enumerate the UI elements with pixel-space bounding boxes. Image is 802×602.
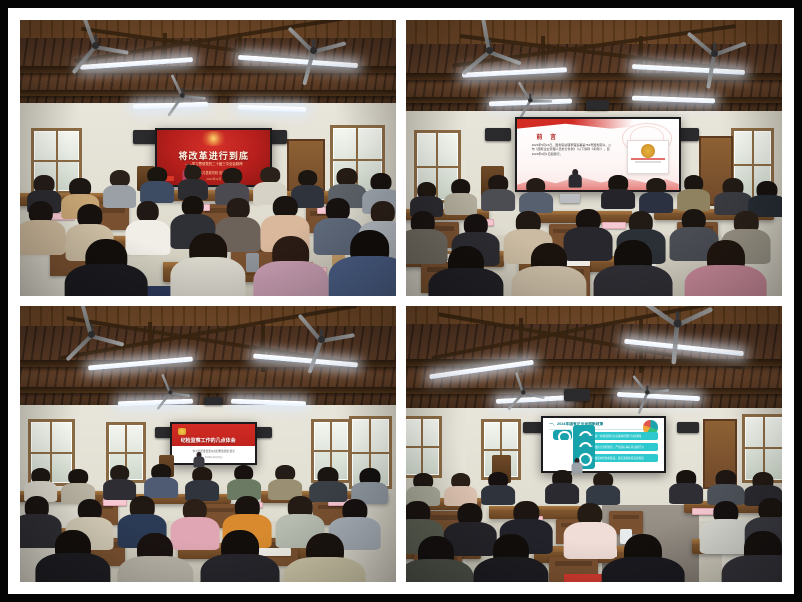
fan-blade [530, 100, 552, 103]
audience-member-foreground [474, 534, 549, 582]
fan-hub [521, 390, 526, 395]
ceiling-cross-beam [406, 388, 782, 394]
audience-member [103, 465, 137, 499]
fan-hub [645, 390, 650, 395]
audience-member [669, 470, 703, 503]
audience-member [639, 178, 673, 212]
diagram-hub [553, 430, 572, 440]
slide-body-text: 2024年5月21日，国务院总理李强签署第781号国务院令，公布《国有企业管理人… [532, 143, 613, 157]
audience-member-foreground [429, 246, 504, 296]
audience-member-foreground [253, 236, 328, 296]
audience-member-foreground [684, 240, 767, 296]
audience-member-foreground [602, 534, 685, 582]
audience-member [227, 465, 261, 499]
audience-member-foreground [406, 536, 474, 582]
audience-member [481, 472, 515, 505]
photo-bottom-right: 一、2024年国有企业采购新政策 （一）进一步规范国有企业采购管理行为的通知 [406, 306, 782, 582]
photo-top-left: 将改革进行到底 ——学习贯彻党的二十届三中全会精神 中共县委党校 宣讲组 202… [20, 20, 396, 296]
audience-member-foreground [511, 243, 586, 296]
audience-member-foreground [283, 533, 366, 582]
conference-room-scene-2: 前 言 2024年5月21日，国务院总理李强签署第781号国务院令，公布《国有企… [406, 20, 782, 296]
audience-member [61, 469, 95, 503]
projector [564, 389, 590, 401]
conference-room-scene-3: 纪检监察工作的几点体会 中共县纪委监委派驻纪检监察组 组长 2024年11月21… [20, 306, 396, 582]
conference-room-scene-4: 一、2024年国有企业采购新政策 （一）进一步规范国有企业采购管理行为的通知 [406, 306, 782, 582]
ceiling-cross-beam [20, 90, 396, 96]
ceiling-plank-panel [20, 20, 396, 38]
audience-member [144, 464, 178, 498]
audience-area [20, 452, 396, 582]
ceiling-cross-beam [406, 359, 782, 366]
fan-hub [180, 92, 185, 97]
wall-speaker [677, 422, 700, 433]
photo-collage: 将改革进行到底 ——学习贯彻党的二十届三中全会精神 中共县委党校 宣讲组 202… [0, 0, 802, 602]
wall-speaker [485, 128, 511, 142]
wooden-truss-ceiling [406, 20, 782, 111]
audience-member [545, 470, 579, 503]
ceiling-plank-panel [406, 20, 782, 44]
audience-member-foreground [200, 530, 279, 582]
slide-title: 纪检监察工作的几点体会 [181, 437, 251, 444]
audience-member [602, 175, 636, 208]
national-emblem-icon [641, 144, 655, 158]
audience-member-foreground [170, 233, 245, 296]
slide-heading: 前 言 [536, 132, 559, 141]
red-folder [564, 574, 602, 582]
collage-matte: 将改革进行到底 ——学习贯彻党的二十届三中全会精神 中共县委党校 宣讲组 202… [8, 8, 794, 594]
audience-area [406, 455, 782, 582]
audience-member [677, 175, 711, 209]
audience-member [444, 179, 478, 213]
document-card-sub-rule [635, 161, 661, 163]
audience-member [481, 175, 515, 209]
fan-hub [318, 336, 325, 343]
audience-member [519, 178, 553, 212]
audience-member-foreground [328, 230, 396, 296]
fan-hub [92, 42, 99, 49]
audience-member-foreground [65, 239, 148, 296]
audience-member [707, 470, 745, 504]
audience-member-foreground [118, 533, 193, 582]
audience-area [20, 152, 396, 296]
conference-room-scene-1: 将改革进行到底 ——学习贯彻党的二十届三中全会精神 中共县委党校 宣讲组 202… [20, 20, 396, 296]
national-emblem-icon [178, 428, 185, 435]
national-emblem-glow-icon [199, 131, 228, 145]
audience-area [406, 164, 782, 296]
diagram-row-label: （一）进一步规范国有企业采购管理行为的通知 [587, 434, 656, 438]
projector [204, 397, 223, 405]
diagram-row-label: （二）强化全流程管控，严禁围标串标等违规行为 [587, 445, 656, 449]
audience-member [140, 167, 174, 203]
ceiling-plank-panel [406, 306, 782, 324]
document-card-title-rule [631, 158, 665, 160]
audience-member [586, 472, 620, 505]
ceiling-cross-beam [20, 387, 396, 393]
audience-member [714, 178, 752, 214]
wooden-truss-ceiling [20, 306, 396, 405]
photo-top-right: 前 言 2024年5月21日，国务院总理李强签署第781号国务院令，公布《国有企… [406, 20, 782, 296]
audience-member [20, 201, 65, 253]
wooden-truss-ceiling [406, 306, 782, 408]
audience-member-foreground [594, 240, 673, 296]
audience-member [351, 468, 389, 503]
audience-member [185, 467, 219, 501]
audience-member [268, 465, 302, 499]
target-icon [558, 431, 570, 443]
audience-member [444, 473, 478, 506]
projector [586, 100, 609, 110]
audience-member-foreground [722, 531, 782, 582]
fan-hub [673, 319, 681, 327]
audience-member-foreground [35, 530, 110, 582]
photo-bottom-left: 纪检监察工作的几点体会 中共县纪委监委派驻纪检监察组 组长 2024年11月21… [20, 306, 396, 582]
